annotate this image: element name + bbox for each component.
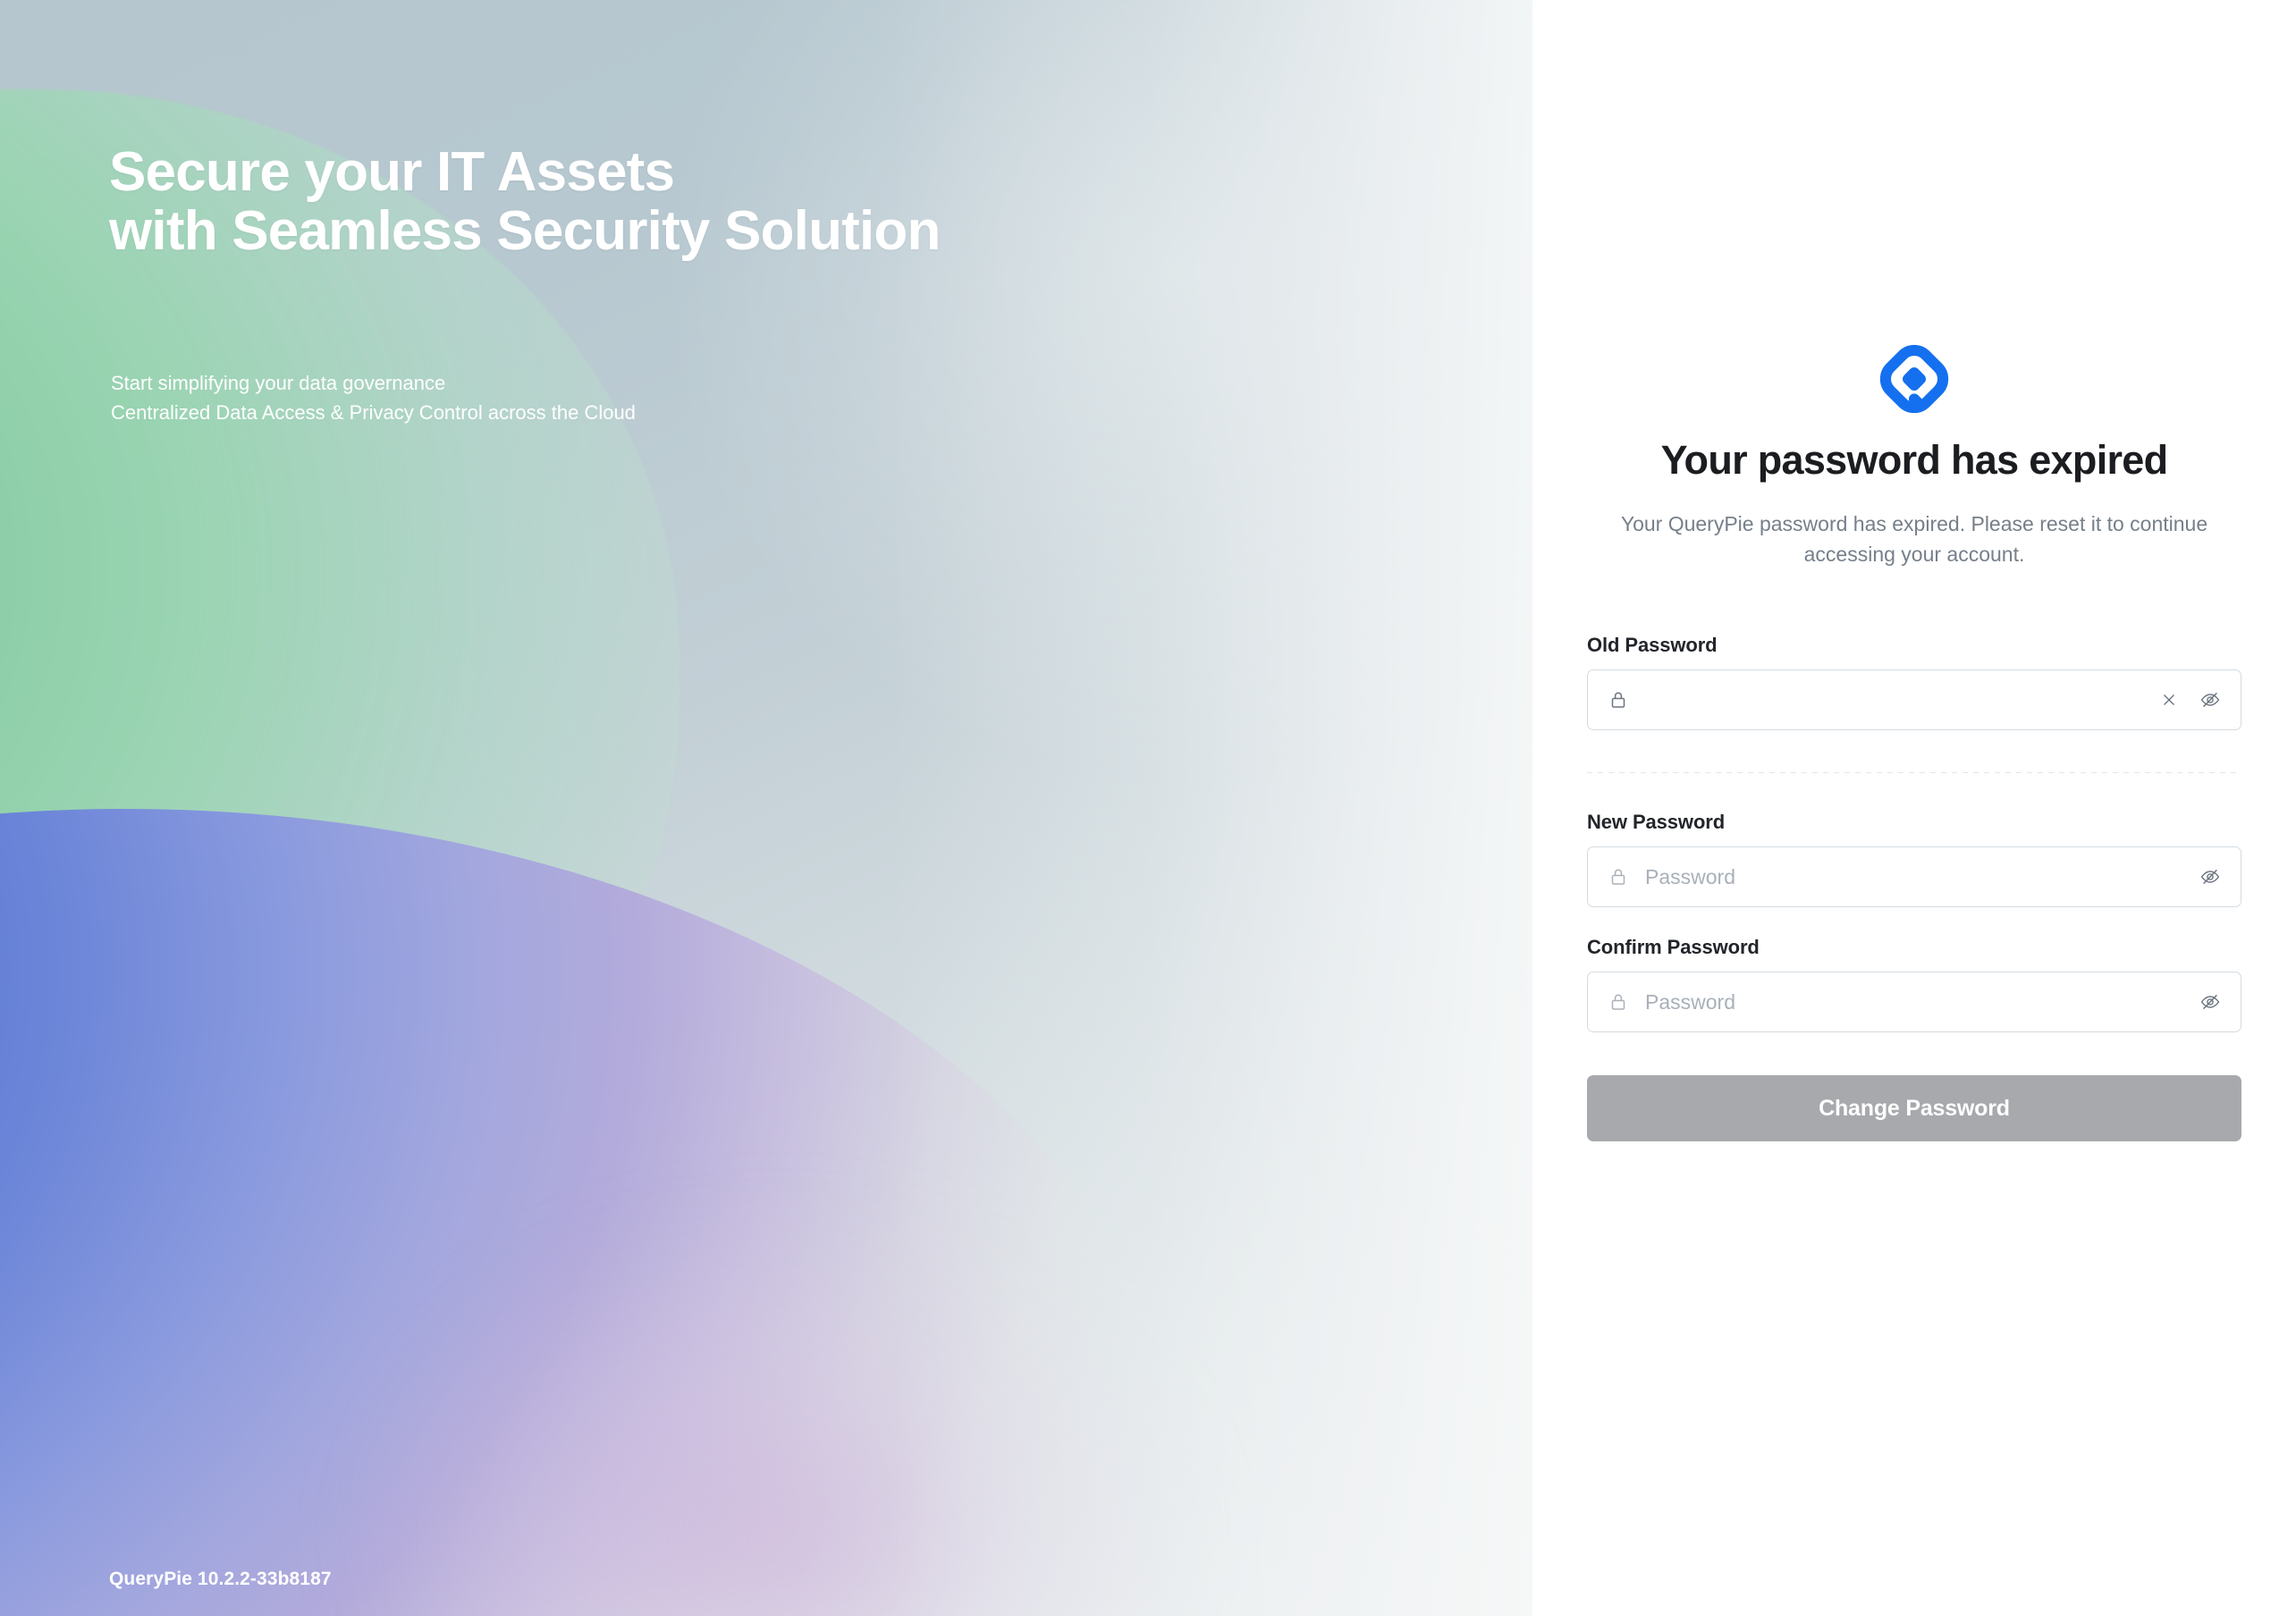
old-password-input[interactable] (1645, 670, 2155, 729)
old-password-actions (2155, 686, 2224, 714)
field-spacer (1587, 907, 2241, 936)
hero-subheadline-line-1: Start simplifying your data governance (111, 368, 636, 398)
hero-headline: Secure your IT Assets with Seamless Secu… (109, 143, 941, 262)
old-password-label: Old Password (1587, 634, 2241, 657)
change-password-button[interactable]: Change Password (1587, 1075, 2241, 1141)
new-password-input[interactable] (1645, 847, 2196, 906)
new-password-label: New Password (1587, 811, 2241, 834)
hero-subheadline-line-2: Centralized Data Access & Privacy Contro… (111, 398, 636, 427)
querypie-logo-icon (1879, 344, 1949, 414)
eye-slash-icon[interactable] (2196, 686, 2224, 714)
lock-icon (1608, 991, 1629, 1013)
app-version-label: QueryPie 10.2.2-33b8187 (109, 1569, 332, 1590)
hero-subheadline: Start simplifying your data governance C… (111, 368, 636, 428)
old-password-field[interactable] (1587, 669, 2241, 730)
confirm-password-field[interactable] (1587, 972, 2241, 1032)
confirm-password-group: Confirm Password (1587, 936, 2241, 1032)
hero-panel: Secure your IT Assets with Seamless Secu… (0, 0, 1532, 1616)
eye-slash-icon[interactable] (2196, 988, 2224, 1016)
page-description: Your QueryPie password has expired. Plea… (1601, 509, 2227, 569)
old-password-group: Old Password (1587, 634, 2241, 730)
login-page: Secure your IT Assets with Seamless Secu… (0, 0, 2296, 1616)
confirm-password-input[interactable] (1645, 972, 2196, 1031)
password-reset-form: Your password has expired Your QueryPie … (1587, 0, 2241, 1616)
page-title: Your password has expired (1587, 437, 2241, 484)
confirm-password-actions (2196, 988, 2224, 1016)
form-panel: Your password has expired Your QueryPie … (1532, 0, 2296, 1616)
new-password-actions (2196, 863, 2224, 891)
new-password-field[interactable] (1587, 846, 2241, 907)
close-icon[interactable] (2155, 686, 2183, 714)
new-password-group: New Password (1587, 811, 2241, 907)
eye-slash-icon[interactable] (2196, 863, 2224, 891)
confirm-password-label: Confirm Password (1587, 936, 2241, 959)
lock-icon (1608, 866, 1629, 888)
form-divider (1587, 772, 2241, 773)
lock-icon (1608, 689, 1629, 711)
